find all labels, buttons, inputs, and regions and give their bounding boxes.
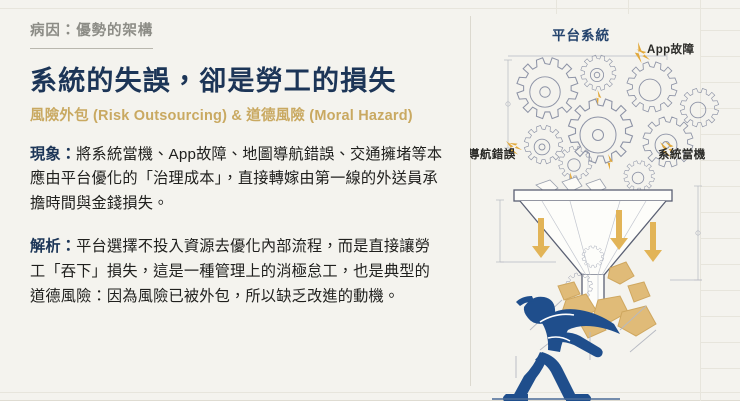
- subtitle: 風險外包 (Risk Outsourcing) & 道德風險 (Moral Ha…: [30, 107, 444, 126]
- paragraph-tag: 解析：: [30, 238, 76, 255]
- spark-icon: [505, 42, 676, 189]
- label-system-crash: 系統當機: [658, 146, 706, 162]
- illustration-panel: 平台系統 App故障 導航錯誤 系統當機: [470, 0, 740, 401]
- gear-cluster-icon: [517, 55, 719, 191]
- paragraph-tag: 現象：: [30, 146, 76, 163]
- paragraph-body: 平台選擇不投入資源去優化內部流程，而是直接讓勞工「吞下」損失，這是一種管理上的消…: [30, 238, 430, 304]
- text-panel: 病因：優勢的架構 系統的失誤，卻是勞工的損失 風險外包 (Risk Outsou…: [0, 0, 470, 401]
- label-app-failure: App故障: [647, 41, 694, 57]
- slide-canvas: 病因：優勢的架構 系統的失誤，卻是勞工的損失 風險外包 (Risk Outsou…: [0, 0, 740, 401]
- illustration-graphic: [470, 0, 740, 401]
- label-nav-error: 導航錯誤: [470, 146, 516, 162]
- eyebrow-label: 病因：優勢的架構: [30, 22, 153, 49]
- paragraph-body: 將系統當機、App故障、地圖導航錯誤、交通擁堵等本應由平台優化的「治理成本」，直…: [30, 146, 442, 212]
- paragraph-analysis: 解析：平台選擇不投入資源去優化內部流程，而是直接讓勞工「吞下」損失，這是一種管理…: [30, 235, 444, 309]
- page-title: 系統的失誤，卻是勞工的損失: [30, 66, 444, 98]
- paragraph-phenomenon: 現象：將系統當機、App故障、地圖導航錯誤、交通擁堵等本應由平台優化的「治理成本…: [30, 143, 444, 217]
- illustration-title: 平台系統: [552, 24, 610, 44]
